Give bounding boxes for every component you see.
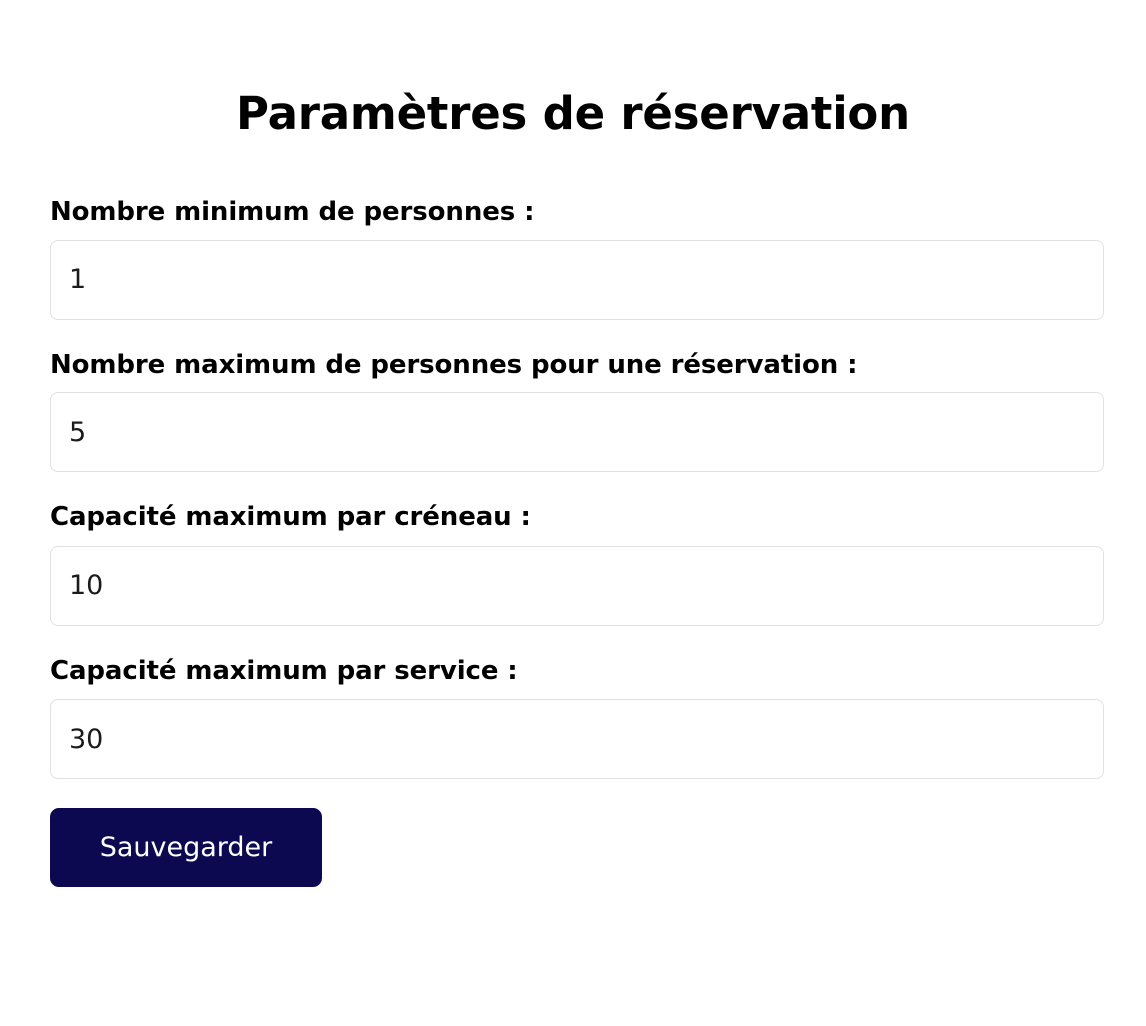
- reservation-settings-form: Nombre minimum de personnes : Nombre max…: [50, 196, 1104, 887]
- input-min-persons[interactable]: [50, 240, 1104, 320]
- input-max-capacity-per-service[interactable]: [50, 699, 1104, 779]
- field-max-capacity-per-slot: Capacité maximum par créneau :: [50, 501, 1104, 626]
- label-max-capacity-per-slot: Capacité maximum par créneau :: [50, 501, 1104, 534]
- reservation-settings-page: Paramètres de réservation Nombre minimum…: [0, 0, 1146, 1026]
- form-actions: Sauvegarder: [50, 808, 1104, 887]
- page-title: Paramètres de réservation: [0, 88, 1146, 140]
- input-max-capacity-per-slot[interactable]: [50, 546, 1104, 626]
- save-button[interactable]: Sauvegarder: [50, 808, 322, 887]
- field-min-persons: Nombre minimum de personnes :: [50, 196, 1104, 320]
- label-max-persons-per-reservation: Nombre maximum de personnes pour une rés…: [50, 349, 1104, 382]
- field-max-persons-per-reservation: Nombre maximum de personnes pour une rés…: [50, 349, 1104, 473]
- label-max-capacity-per-service: Capacité maximum par service :: [50, 655, 1104, 688]
- input-max-persons-per-reservation[interactable]: [50, 392, 1104, 472]
- label-min-persons: Nombre minimum de personnes :: [50, 196, 1104, 229]
- field-max-capacity-per-service: Capacité maximum par service :: [50, 655, 1104, 780]
